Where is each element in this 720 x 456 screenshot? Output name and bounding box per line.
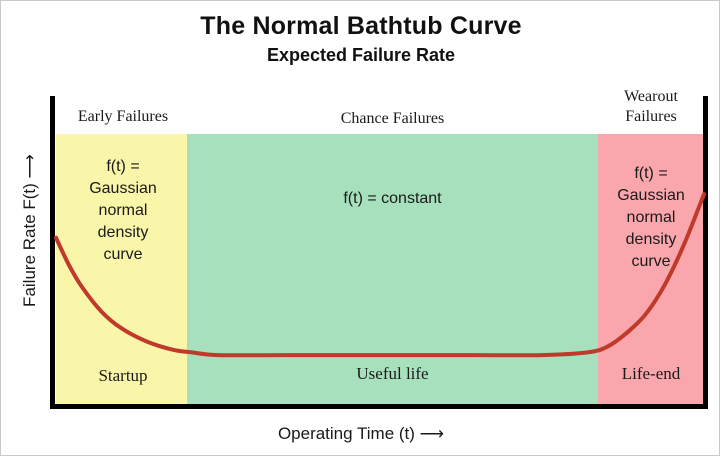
wearout-formula-line4: density	[598, 229, 704, 251]
x-axis-line	[50, 404, 708, 409]
early-formula-line5: curve	[59, 244, 187, 266]
early-formula-line3: normal	[59, 200, 187, 222]
title-block: The Normal Bathtub Curve Expected Failur…	[1, 11, 720, 67]
early-formula-line1: f(t) =	[59, 156, 187, 178]
chart-subtitle: Expected Failure Rate	[1, 43, 720, 67]
x-axis-label: Operating Time (t) ⟶	[278, 424, 444, 443]
x-axis-arrow-icon: ⟶	[420, 424, 444, 443]
region-label-wearout-line1: Wearout	[598, 87, 704, 107]
region-label-wearout-failures: Wearout Failures	[598, 87, 704, 127]
region-label-chance-failures: Chance Failures	[187, 109, 598, 129]
wearout-formula-line5: curve	[598, 251, 704, 273]
phase-label-useful-life: Useful life	[187, 364, 598, 384]
early-formula-line2: Gaussian	[59, 178, 187, 200]
chance-formula-text: f(t) = constant	[187, 190, 598, 208]
wearout-formula-line3: normal	[598, 207, 704, 229]
y-axis-line	[50, 96, 55, 409]
x-axis-label-text: Operating Time (t)	[278, 424, 415, 443]
wearout-formula-text: f(t) = Gaussian normal density curve	[598, 163, 704, 273]
chart-title: The Normal Bathtub Curve	[1, 11, 720, 41]
phase-label-startup: Startup	[59, 366, 187, 386]
wearout-formula-line1: f(t) =	[598, 163, 704, 185]
bathtub-curve-figure: The Normal Bathtub Curve Expected Failur…	[0, 0, 720, 456]
early-formula-text: f(t) = Gaussian normal density curve	[59, 156, 187, 266]
early-formula-line4: density	[59, 222, 187, 244]
y-axis-arrow-icon: ⟶	[20, 155, 39, 178]
y-axis-label-text: Failure Rate F(t)	[20, 183, 39, 307]
y-axis-label-wrap: Failure Rate F(t) ⟶	[20, 116, 40, 346]
phase-label-life-end: Life-end	[598, 364, 704, 384]
wearout-formula-line2: Gaussian	[598, 185, 704, 207]
region-label-wearout-line2: Failures	[598, 107, 704, 127]
x-axis-label-wrap: Operating Time (t) ⟶	[1, 424, 720, 444]
y-axis-label: Failure Rate F(t) ⟶	[20, 155, 39, 307]
region-label-early-failures: Early Failures	[59, 107, 187, 127]
